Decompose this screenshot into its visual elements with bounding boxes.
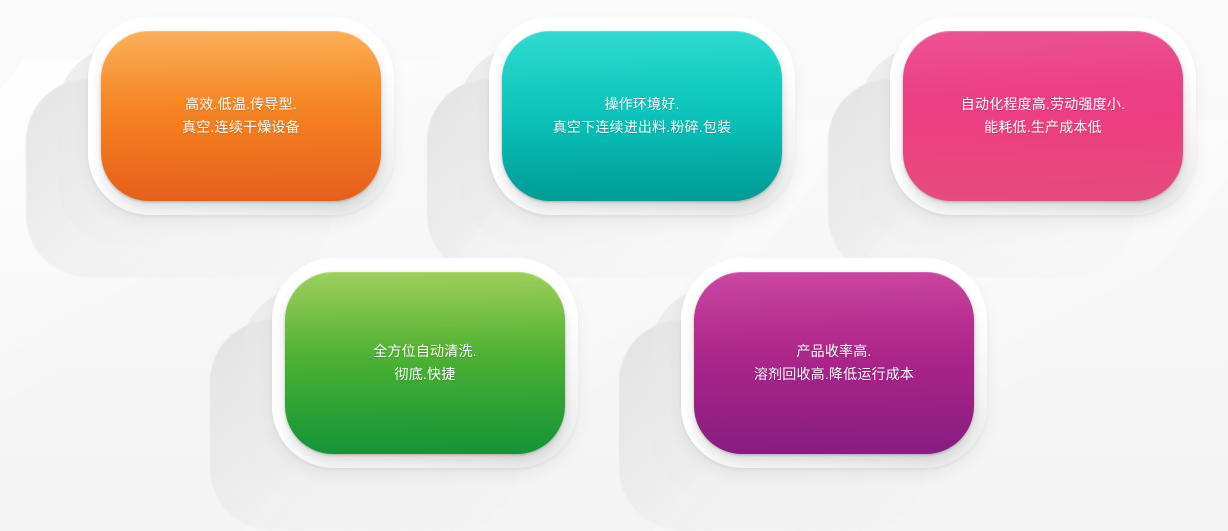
card-label: 全方位自动清洗. 彻底.快捷 (359, 340, 491, 386)
card-color-panel[interactable]: 高效.低温.传导型. 真空.连续干燥设备 (101, 31, 381, 201)
feature-card-pink[interactable]: 自动化程度高.劳动强度小. 能耗低.生产成本低 (890, 17, 1196, 215)
feature-card-purple[interactable]: 产品收率高. 溶剂回收高.降低运行成本 (681, 258, 987, 468)
card-label: 操作环境好. 真空下连续进出料.粉碎.包装 (539, 93, 746, 139)
feature-card-orange[interactable]: 高效.低温.传导型. 真空.连续干燥设备 (88, 17, 394, 215)
card-color-panel[interactable]: 自动化程度高.劳动强度小. 能耗低.生产成本低 (903, 31, 1183, 201)
feature-card-teal[interactable]: 操作环境好. 真空下连续进出料.粉碎.包装 (489, 17, 795, 215)
card-label: 产品收率高. 溶剂回收高.降低运行成本 (740, 340, 928, 386)
card-label: 高效.低温.传导型. 真空.连续干燥设备 (168, 93, 314, 139)
feature-card-green[interactable]: 全方位自动清洗. 彻底.快捷 (272, 258, 578, 468)
card-color-panel[interactable]: 全方位自动清洗. 彻底.快捷 (285, 272, 565, 454)
card-color-panel[interactable]: 操作环境好. 真空下连续进出料.粉碎.包装 (502, 31, 782, 201)
feature-cards-stage: 高效.低温.传导型. 真空.连续干燥设备 操作环境好. 真空下连续进出料.粉碎.… (0, 0, 1228, 531)
card-label: 自动化程度高.劳动强度小. 能耗低.生产成本低 (947, 93, 1139, 139)
card-color-panel[interactable]: 产品收率高. 溶剂回收高.降低运行成本 (694, 272, 974, 454)
